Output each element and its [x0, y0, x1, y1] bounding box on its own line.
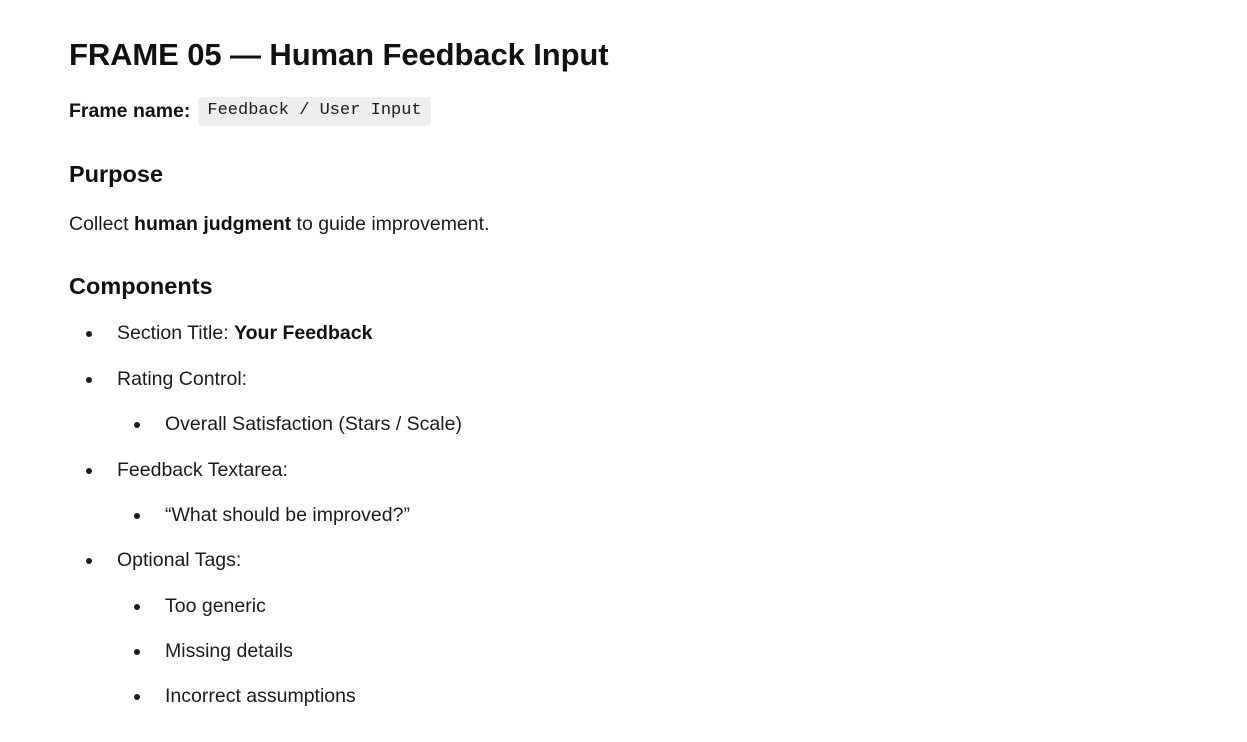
purpose-paragraph: Collect human judgment to guide improvem…	[69, 210, 1187, 239]
components-list: Section Title: Your Feedback Rating Cont…	[69, 321, 1187, 709]
bullet-icon	[86, 377, 92, 383]
purpose-heading: Purpose	[69, 159, 1187, 190]
frame-name-label: Frame name:	[69, 97, 190, 126]
bullet-icon	[86, 468, 92, 474]
list-item-label: Feedback Textarea:	[117, 459, 288, 481]
list-item: Optional Tags: Too generic Missing detai…	[69, 548, 1187, 709]
frame-name-row: Frame name: Feedback / User Input	[69, 97, 1187, 126]
list-item: Feedback Textarea: “What should be impro…	[69, 458, 1187, 529]
bullet-icon	[134, 513, 140, 519]
list-item-label: Optional Tags:	[117, 549, 241, 571]
components-heading: Components	[69, 271, 1187, 302]
sub-list-item: Missing details	[117, 639, 1187, 664]
list-item: Rating Control: Overall Satisfaction (St…	[69, 367, 1187, 438]
sub-list-item: Overall Satisfaction (Stars / Scale)	[117, 412, 1187, 437]
sub-list-item: “What should be improved?”	[117, 503, 1187, 528]
purpose-text-emphasis: human judgment	[134, 213, 291, 235]
bullet-icon	[134, 694, 140, 700]
bullet-icon	[134, 604, 140, 610]
sub-list-item-label: Overall Satisfaction (Stars / Scale)	[165, 413, 462, 435]
bullet-icon	[86, 558, 92, 564]
bullet-icon	[86, 331, 92, 337]
list-item-label: Section Title:	[117, 322, 234, 344]
sub-list-item: Incorrect assumptions	[117, 684, 1187, 709]
list-item: Section Title: Your Feedback	[69, 321, 1187, 346]
sub-list: Too generic Missing details Incorrect as…	[117, 594, 1187, 710]
bullet-icon	[134, 649, 140, 655]
list-item-label: Rating Control:	[117, 368, 247, 390]
purpose-text-prefix: Collect	[69, 213, 134, 235]
sub-list-item-label: “What should be improved?”	[165, 504, 410, 526]
page-title: FRAME 05 — Human Feedback Input	[69, 36, 1187, 75]
sub-list-item-label: Missing details	[165, 640, 293, 662]
purpose-text-suffix: to guide improvement.	[291, 213, 489, 235]
list-item-emphasis: Your Feedback	[234, 322, 372, 344]
sub-list: Overall Satisfaction (Stars / Scale)	[117, 412, 1187, 437]
sub-list-item-label: Too generic	[165, 595, 266, 617]
frame-name-code-badge: Feedback / User Input	[198, 97, 430, 126]
document-page: FRAME 05 — Human Feedback Input Frame na…	[0, 0, 1247, 710]
sub-list-item-label: Incorrect assumptions	[165, 685, 356, 707]
sub-list-item: Too generic	[117, 594, 1187, 619]
sub-list: “What should be improved?”	[117, 503, 1187, 528]
bullet-icon	[134, 422, 140, 428]
